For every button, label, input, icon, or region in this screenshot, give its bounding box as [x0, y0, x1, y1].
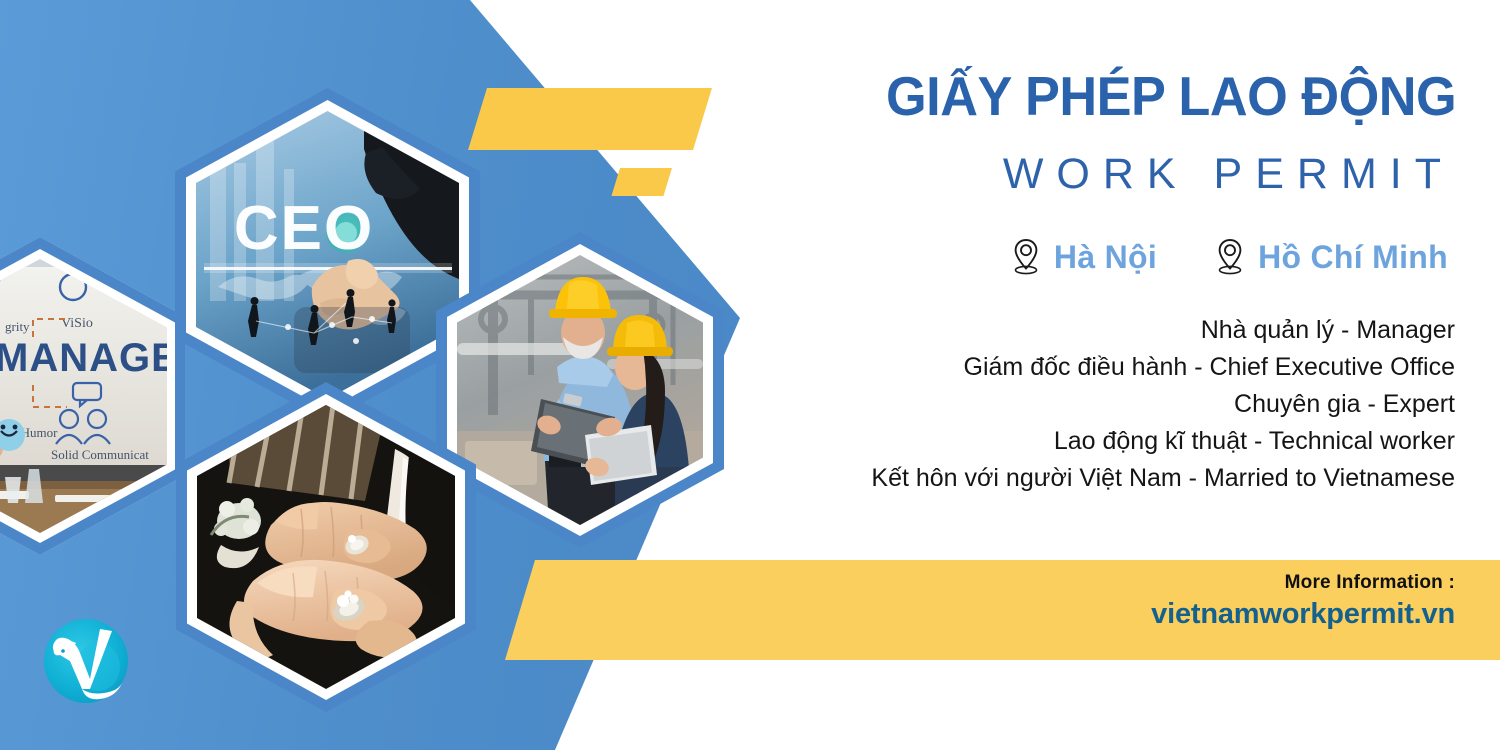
service-item: Nhà quản lý - Manager — [675, 312, 1455, 349]
page-title-english: WORK PERMIT — [1003, 152, 1454, 197]
map-pin-icon — [1215, 238, 1245, 276]
map-pin-icon — [1011, 238, 1041, 276]
service-item: Giám đốc điều hành - Chief Executive Off… — [675, 349, 1455, 386]
more-information-block: More Information : vietnamworkpermit.vn — [1151, 572, 1455, 631]
city-hanoi[interactable]: Hà Nội — [1011, 238, 1157, 276]
service-item: Kết hôn với người Việt Nam - Married to … — [675, 460, 1455, 497]
city-list: Hà Nội Hồ Chí Minh — [1011, 238, 1448, 276]
svg-text:MANAGE: MANAGE — [0, 336, 167, 380]
city-hochiminh[interactable]: Hồ Chí Minh — [1215, 238, 1448, 276]
vietnam-work-permit-logo[interactable] — [40, 615, 132, 707]
svg-text:Solid Communicat: Solid Communicat — [51, 447, 149, 462]
service-item: Chuyên gia - Expert — [675, 386, 1455, 423]
svg-text:grity: grity — [5, 319, 30, 334]
yellow-accent-bar-large — [468, 88, 712, 150]
work-permit-banner: 1 grity ViSio MANAGE f Humor Solid Commu… — [0, 0, 1500, 750]
more-information-label: More Information : — [1151, 572, 1455, 594]
website-url-link[interactable]: vietnamworkpermit.vn — [1151, 598, 1455, 631]
svg-text:ViSio: ViSio — [61, 316, 93, 331]
city-label-hanoi: Hà Nội — [1054, 239, 1157, 276]
page-title-vietnamese: GIẤY PHÉP LAO ĐỘNG — [886, 68, 1456, 126]
service-list: Nhà quản lý - Manager Giám đốc điều hành… — [675, 312, 1455, 497]
svg-text:CEO: CEO — [234, 194, 374, 263]
city-label-hochiminh: Hồ Chí Minh — [1258, 239, 1448, 276]
yellow-accent-bar-small — [611, 168, 672, 196]
service-item: Lao động kĩ thuật - Technical worker — [675, 423, 1455, 460]
